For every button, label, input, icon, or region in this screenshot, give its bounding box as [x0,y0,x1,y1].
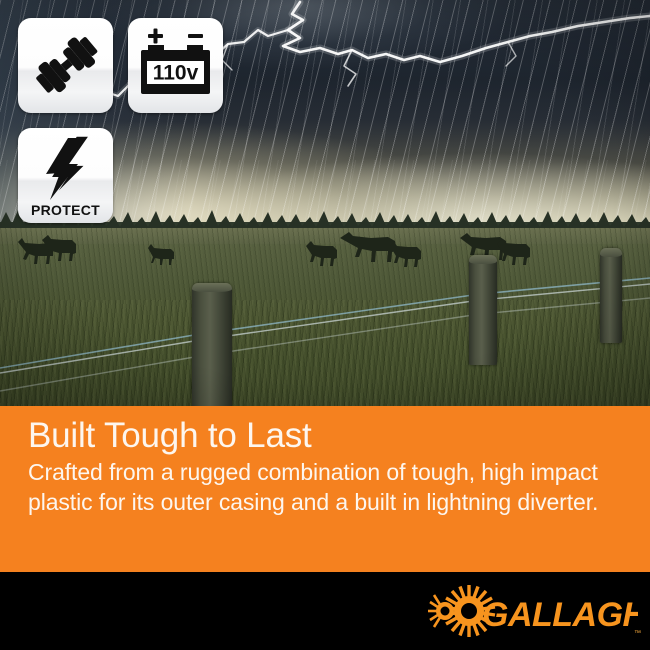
gallagher-wordmark: GALLAGHER [482,596,638,634]
message-panel: Built Tough to Last Crafted from a rugge… [0,406,650,572]
marketing-banner: 110v PROTECT Built Tough to Last Crafted… [0,0,650,650]
panel-headline: Built Tough to Last [28,415,312,456]
hero-photo: 110v PROTECT [0,0,650,408]
gallagher-logo[interactable]: GALLAGHER [426,581,638,641]
panel-body-text: Crafted from a rugged combination of tou… [28,458,624,517]
fence-post-mid [469,255,497,365]
fence-wire [0,228,650,408]
trademark-symbol: ™ [634,630,641,637]
badge-power[interactable]: 110v [128,18,223,113]
footer-bar: GALLAGHER ™ [0,572,650,650]
fence-post-near [192,283,232,408]
battery-voltage-label: 110v [153,62,199,85]
badge-durability[interactable] [18,18,113,113]
dumbbell-icon [18,18,113,113]
battery-icon: 110v [128,18,223,113]
feature-badges: 110v PROTECT [0,0,240,240]
protect-label: PROTECT [18,202,113,218]
fence-post-far [600,248,622,343]
badge-protection[interactable]: PROTECT [18,128,113,223]
